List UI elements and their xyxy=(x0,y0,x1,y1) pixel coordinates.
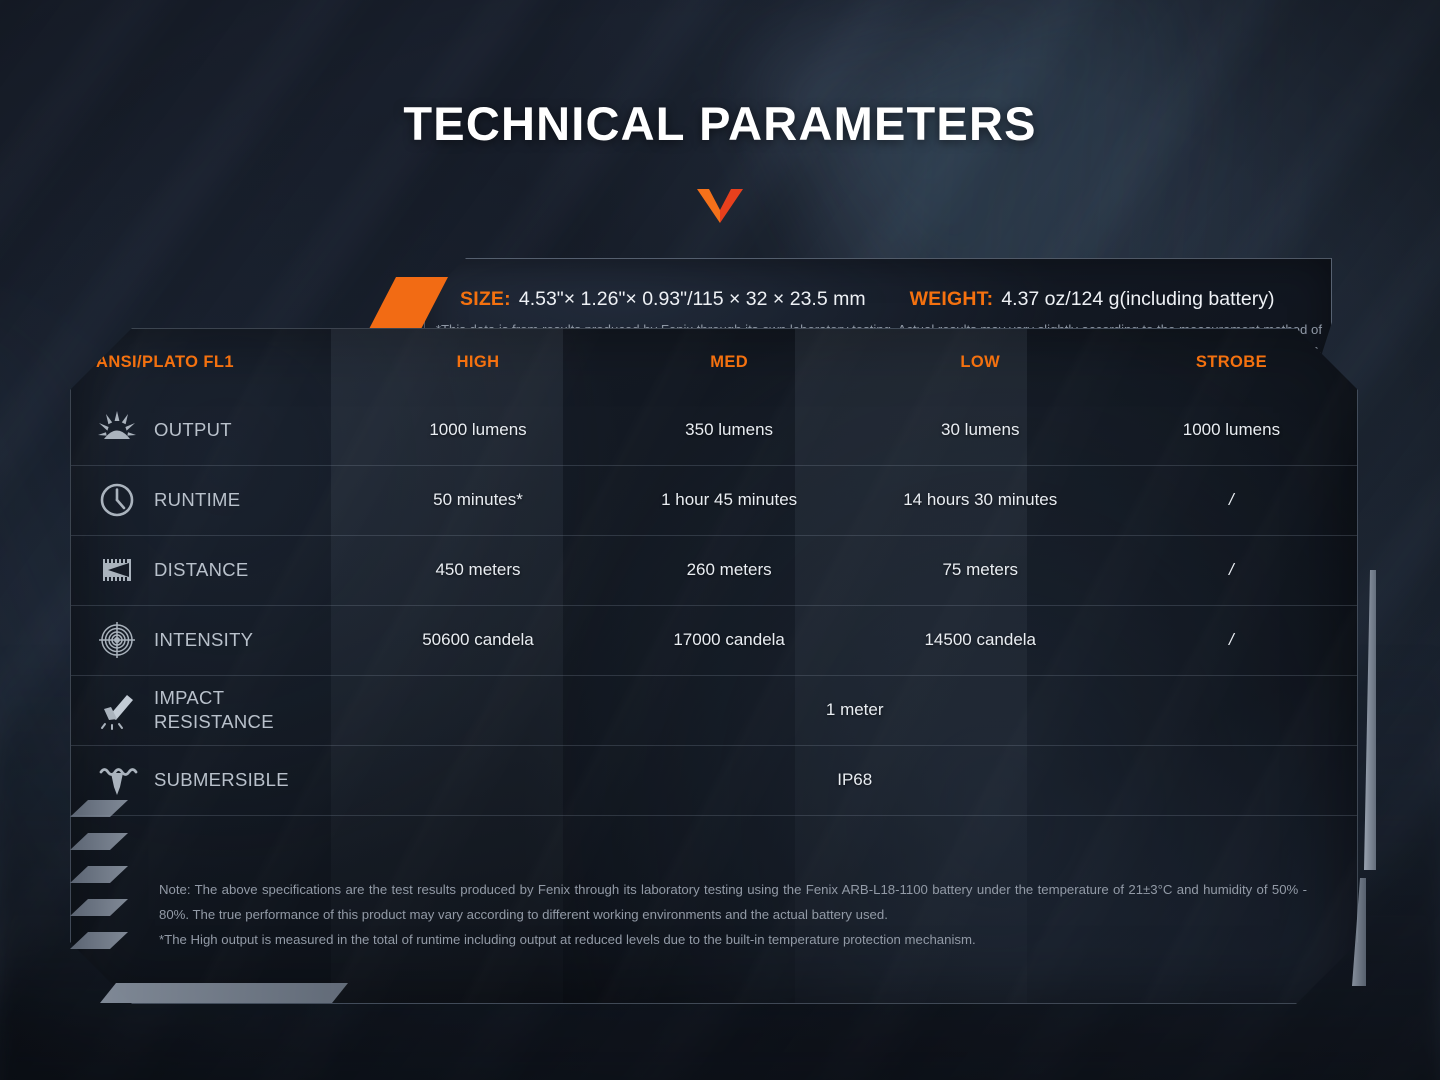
size-label: SIZE: xyxy=(460,288,511,311)
decorative-bottom-bar xyxy=(100,983,348,1003)
header-label-strobe: STROBE xyxy=(1196,353,1267,371)
weight-value: 4.37 oz/124 g(including battery) xyxy=(1001,288,1274,311)
header-cell-high: HIGH xyxy=(352,329,603,395)
table-row: IMPACT RESISTANCE 1 meter xyxy=(71,675,1357,745)
size-weight-line: SIZE: 4.53"× 1.26"× 0.93"/115 × 32 × 23.… xyxy=(424,283,1332,315)
impact-hammer-icon xyxy=(96,689,138,731)
page-title: TECHNICAL PARAMETERS xyxy=(0,96,1440,151)
header-cell-low: LOW xyxy=(855,329,1106,395)
row-label-intensity: INTENSITY xyxy=(71,605,352,675)
row-label-distance: DISTANCE xyxy=(71,535,352,605)
cell-output-high: 1000 lumens xyxy=(352,395,603,465)
cell-submersible-value: IP68 xyxy=(352,745,1357,815)
row-label-text: INTENSITY xyxy=(154,628,253,652)
cell-runtime-strobe: / xyxy=(1106,465,1357,535)
cell-output-low: 30 lumens xyxy=(855,395,1106,465)
row-label-output: OUTPUT xyxy=(71,395,352,465)
cell-intensity-high: 50600 candela xyxy=(352,605,603,675)
row-label-text: RUNTIME xyxy=(154,488,240,512)
header-label-low: LOW xyxy=(960,353,1000,371)
table-header-row: ANSI/PLATO FL1 HIGH MED LOW STROBE xyxy=(71,329,1357,395)
footnote-paragraph-2: *The High output is measured in the tota… xyxy=(159,927,1307,952)
chevron-down-icon xyxy=(697,189,743,223)
row-label-runtime: RUNTIME xyxy=(71,465,352,535)
target-intensity-icon xyxy=(96,619,138,661)
technical-parameters-page: TECHNICAL PARAMETERS SIZE: 4.53"× 1.26"×… xyxy=(0,0,1440,1080)
specifications-table: ANSI/PLATO FL1 HIGH MED LOW STROBE xyxy=(71,329,1357,816)
row-label-text: OUTPUT xyxy=(154,418,232,442)
size-value: 4.53"× 1.26"× 0.93"/115 × 32 × 23.5 mm xyxy=(519,288,866,311)
header-label-med: MED xyxy=(710,353,748,371)
header-cell-med: MED xyxy=(604,329,855,395)
cell-intensity-low: 14500 candela xyxy=(855,605,1106,675)
header-label-ansi: ANSI/PLATO FL1 xyxy=(96,353,352,372)
cell-distance-low: 75 meters xyxy=(855,535,1106,605)
cell-runtime-med: 1 hour 45 minutes xyxy=(604,465,855,535)
specs-table-panel: ANSI/PLATO FL1 HIGH MED LOW STROBE xyxy=(70,328,1358,1004)
row-label-impact-resistance: IMPACT RESISTANCE xyxy=(71,675,352,745)
cell-impact-resistance-value: 1 meter xyxy=(352,675,1357,745)
weight-label: WEIGHT: xyxy=(910,288,994,311)
clock-icon xyxy=(96,479,138,521)
cell-distance-med: 260 meters xyxy=(604,535,855,605)
table-row: SUBMERSIBLE IP68 xyxy=(71,745,1357,815)
sunburst-icon xyxy=(96,409,138,451)
cell-intensity-strobe: / xyxy=(1106,605,1357,675)
table-row: INTENSITY 50600 candela 17000 candela 14… xyxy=(71,605,1357,675)
row-label-text: SUBMERSIBLE xyxy=(154,768,289,792)
table-row: DISTANCE 450 meters 260 meters 75 meters… xyxy=(71,535,1357,605)
cell-output-med: 350 lumens xyxy=(604,395,855,465)
table-row: OUTPUT 1000 lumens 350 lumens 30 lumens … xyxy=(71,395,1357,465)
footnote-paragraph-1: Note: The above specifications are the t… xyxy=(159,877,1307,927)
cell-distance-high: 450 meters xyxy=(352,535,603,605)
submersible-wave-icon xyxy=(96,759,138,801)
decorative-stripes xyxy=(70,800,128,970)
table-row: RUNTIME 50 minutes* 1 hour 45 minutes 14… xyxy=(71,465,1357,535)
row-label-text: DISTANCE xyxy=(154,558,249,582)
cell-runtime-low: 14 hours 30 minutes xyxy=(855,465,1106,535)
cell-runtime-high: 50 minutes* xyxy=(352,465,603,535)
row-label-text: IMPACT RESISTANCE xyxy=(154,686,274,734)
beam-distance-icon xyxy=(96,549,138,591)
header-label-high: HIGH xyxy=(457,353,500,371)
cell-distance-strobe: / xyxy=(1106,535,1357,605)
cell-intensity-med: 17000 candela xyxy=(604,605,855,675)
footnote-block: Note: The above specifications are the t… xyxy=(159,877,1307,952)
cell-output-strobe: 1000 lumens xyxy=(1106,395,1357,465)
